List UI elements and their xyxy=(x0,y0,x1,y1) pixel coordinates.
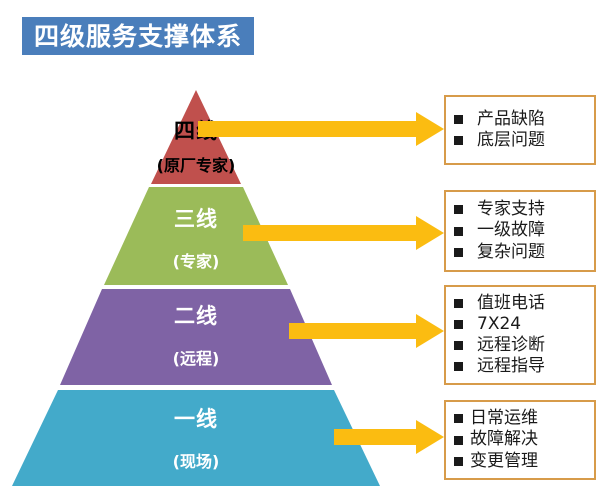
callout-tier2[interactable]: 值班电话 7X24 远程诊断 远程指导 xyxy=(444,285,596,385)
square-bullet-icon xyxy=(454,436,463,445)
square-bullet-icon xyxy=(454,341,463,350)
callout-tier1[interactable]: 日常运维 故障解决 变更管理 xyxy=(444,400,596,480)
square-bullet-icon xyxy=(454,414,463,423)
square-bullet-icon xyxy=(454,299,463,308)
callout-tier3-item-1: 专家支持 xyxy=(454,199,586,220)
slide-canvas: 四级服务支撑体系 四线 (原厂专家) 三线 (专家) 二线 (远程) 一线 (现… xyxy=(0,0,612,500)
square-bullet-icon xyxy=(454,115,463,124)
callout-tier2-item-2: 7X24 xyxy=(454,314,586,335)
callout-tier4-item-1: 产品缺陷 xyxy=(454,109,586,130)
callout-tier2-item-3: 远程诊断 xyxy=(454,335,586,356)
square-bullet-icon xyxy=(454,362,463,371)
square-bullet-icon xyxy=(454,227,463,236)
callout-tier3-item-2: 一级故障 xyxy=(454,220,586,241)
callout-tier2-item-4: 远程指导 xyxy=(454,356,586,377)
pyramid-tier-1-shape[interactable] xyxy=(12,390,380,486)
callout-tier1-item-1: 日常运维 xyxy=(454,408,586,429)
arrow-tier3 xyxy=(243,216,444,250)
arrow-tier4 xyxy=(198,112,444,146)
callout-tier1-item-3: 变更管理 xyxy=(454,451,586,472)
square-bullet-icon xyxy=(454,248,463,257)
square-bullet-icon xyxy=(454,205,463,214)
callout-tier4[interactable]: 产品缺陷 底层问题 xyxy=(444,95,596,165)
callout-tier3-item-3: 复杂问题 xyxy=(454,242,586,263)
arrow-tier2 xyxy=(289,314,444,348)
callout-tier4-item-2: 底层问题 xyxy=(454,130,586,151)
square-bullet-icon xyxy=(454,457,463,466)
arrow-tier1 xyxy=(334,420,444,454)
callout-tier2-item-1: 值班电话 xyxy=(454,293,586,314)
square-bullet-icon xyxy=(454,136,463,145)
callout-tier1-item-2: 故障解决 xyxy=(454,429,586,450)
callout-tier3[interactable]: 专家支持 一级故障 复杂问题 xyxy=(444,190,596,272)
square-bullet-icon xyxy=(454,320,463,329)
